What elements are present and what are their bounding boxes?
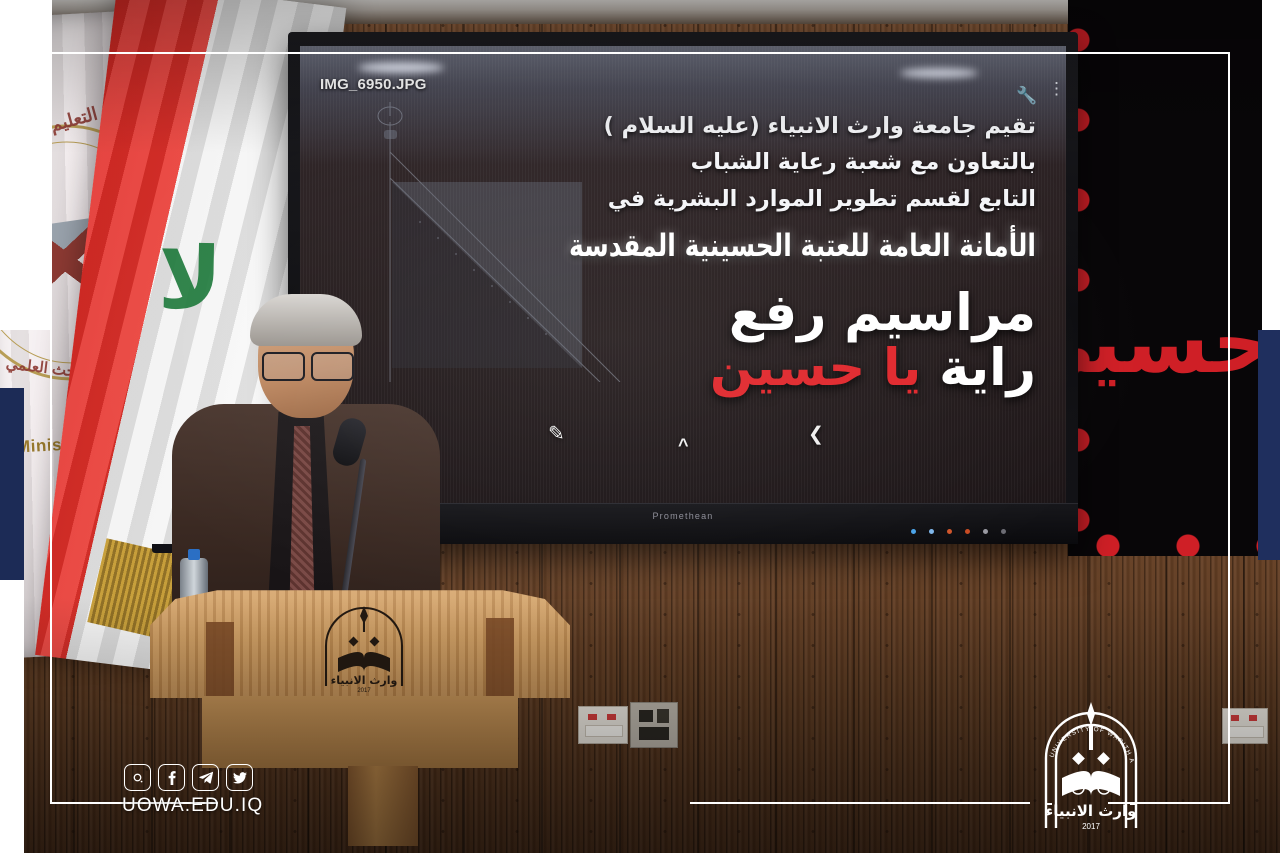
logo-year: 2017 (1082, 822, 1100, 831)
instagram-icon[interactable] (124, 764, 151, 791)
white-corner-bottom-left (0, 580, 24, 853)
logo-arabic-text: وارث الانبياء (1046, 802, 1137, 820)
facebook-icon[interactable] (158, 764, 185, 791)
blue-accent-left (0, 388, 24, 580)
logo-latin-ring-text: UNIVERSITY OF WARITH AL-ANBIYA (1032, 700, 1135, 764)
university-logo: UNIVERSITY OF WARITH AL-ANBIYA وارث الان… (1032, 700, 1150, 836)
photo-canvas: وزارة التعليم العالي والبحث العلمي Minis… (0, 0, 1280, 853)
social-icon-row[interactable] (124, 764, 253, 791)
white-corner-top-right (1262, 0, 1280, 330)
telegram-icon[interactable] (192, 764, 219, 791)
website-label: UOWA.EDU.IQ (122, 795, 263, 817)
blue-accent-right (1258, 330, 1280, 560)
svg-text:UNIVERSITY OF WARITH AL-ANBIYA: UNIVERSITY OF WARITH AL-ANBIYA (1032, 700, 1135, 764)
twitter-icon[interactable] (226, 764, 253, 791)
white-corner-top-left (0, 0, 52, 330)
